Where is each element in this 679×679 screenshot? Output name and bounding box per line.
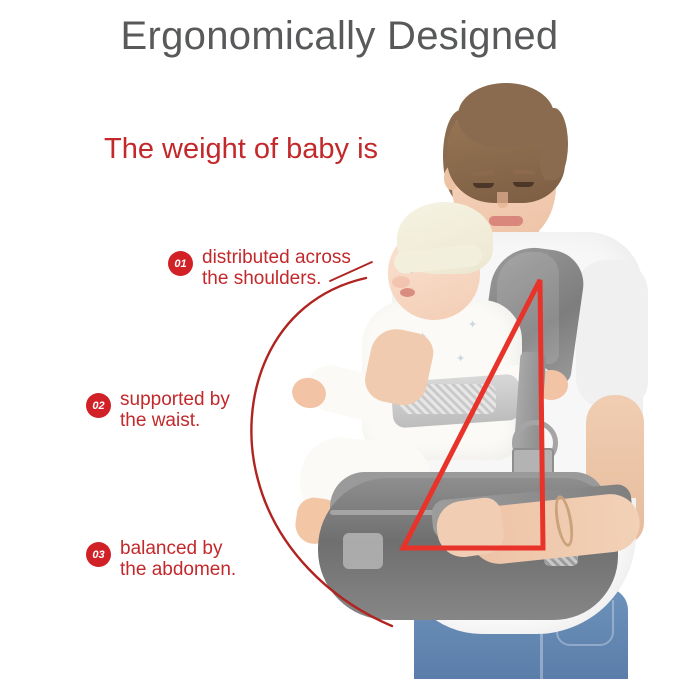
baby-mouth bbox=[400, 288, 415, 297]
woman-hair-right bbox=[540, 108, 568, 180]
callout-badge-03: 03 bbox=[86, 542, 111, 567]
callout-text-01: distributed across the shoulders. bbox=[202, 247, 351, 290]
callout-badge-02: 02 bbox=[86, 393, 111, 418]
callout-line-2: the shoulders. bbox=[202, 268, 351, 289]
callout-line-2: the waist. bbox=[120, 410, 230, 431]
callout-02: 02 supported by the waist. bbox=[86, 389, 230, 432]
carrier-seat-label bbox=[343, 533, 383, 569]
callout-line-2: the abdomen. bbox=[120, 559, 236, 580]
page-title: Ergonomically Designed bbox=[0, 14, 679, 59]
callout-line-1: balanced by bbox=[120, 538, 236, 559]
callout-line-1: supported by bbox=[120, 389, 230, 410]
callout-text-03: balanced by the abdomen. bbox=[120, 538, 236, 581]
woman-nose bbox=[497, 192, 508, 208]
callout-text-02: supported by the waist. bbox=[120, 389, 230, 432]
woman-eye-right bbox=[513, 182, 534, 187]
outfit-star: ✦ bbox=[456, 352, 465, 365]
baby-cheek bbox=[392, 276, 410, 288]
callout-line-1: distributed across bbox=[202, 247, 351, 268]
woman-eye-left bbox=[473, 183, 494, 188]
callout-03: 03 balanced by the abdomen. bbox=[86, 538, 236, 581]
outfit-star: ✦ bbox=[468, 318, 477, 331]
woman-lips bbox=[489, 216, 523, 226]
woman-sleeve-right bbox=[576, 260, 648, 408]
callout-badge-01: 01 bbox=[168, 251, 193, 276]
infographic-canvas: ✦ ✦ ✦ ✦ Ergonomicall bbox=[0, 0, 679, 679]
page-subtitle: The weight of baby is bbox=[104, 133, 378, 166]
callout-01: 01 distributed across the shoulders. bbox=[168, 247, 351, 290]
